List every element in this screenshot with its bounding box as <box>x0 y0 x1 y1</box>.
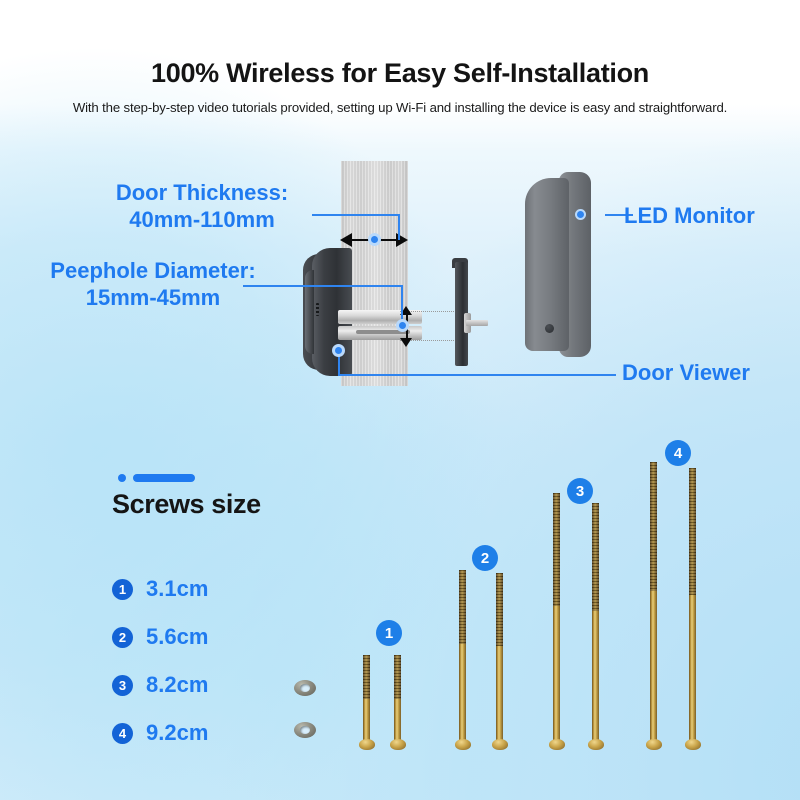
marker-led-monitor <box>575 209 586 220</box>
screw-4b <box>689 468 696 743</box>
washer-upper <box>294 680 316 696</box>
infographic-page: 100% Wireless for Easy Self-Installation… <box>0 0 800 800</box>
legend-badge-2: 2 <box>112 627 133 648</box>
screw-badge-1: 1 <box>376 620 402 646</box>
label-door-thickness: Door Thickness: 40mm-110mm <box>82 180 322 234</box>
screw-thread <box>496 573 503 646</box>
screws-legend: 1 3.1cm 2 5.6cm 3 8.2cm 4 9.2cm <box>112 565 208 757</box>
screw-3a <box>553 493 560 743</box>
screw-head <box>549 739 565 750</box>
list-item: 2 5.6cm <box>112 613 208 661</box>
screw-thread <box>689 468 696 595</box>
screw-head <box>359 739 375 750</box>
accent-bar-icon <box>133 474 195 482</box>
legend-size-4: 9.2cm <box>146 720 208 746</box>
diameter-arrow-down-icon <box>400 338 412 347</box>
leader-door-viewer-h <box>338 374 616 376</box>
accent-dot-icon <box>118 474 126 482</box>
screw-2b <box>496 573 503 743</box>
led-monitor-unit <box>525 172 591 357</box>
screw-head <box>588 739 604 750</box>
screw-thread <box>553 493 560 606</box>
screw-badge-3: 3 <box>567 478 593 504</box>
leader-peephole-v <box>401 285 403 323</box>
screw-thread <box>650 462 657 591</box>
marker-door-viewer <box>332 344 345 357</box>
page-title: 100% Wireless for Easy Self-Installation <box>0 58 800 89</box>
washer-hole-icon <box>300 684 310 692</box>
legend-size-3: 8.2cm <box>146 672 208 698</box>
legend-badge-1: 1 <box>112 579 133 600</box>
camera-vent-icon <box>316 303 319 316</box>
washer-hole-icon <box>300 726 310 734</box>
screw-head <box>455 739 471 750</box>
legend-size-2: 5.6cm <box>146 624 208 650</box>
screw-3b <box>592 503 599 743</box>
screw-thread <box>363 655 370 699</box>
screw-head <box>492 739 508 750</box>
screw-1b <box>394 655 401 743</box>
mount-screw-pin <box>466 320 488 326</box>
leader-door-thickness-h <box>312 214 400 216</box>
label-peephole-diameter: Peephole Diameter: 15mm-45mm <box>28 258 278 312</box>
screw-thread <box>459 570 466 644</box>
screw-thread <box>592 503 599 611</box>
screw-thread <box>394 655 401 699</box>
screw-1a <box>363 655 370 743</box>
legend-badge-3: 3 <box>112 675 133 696</box>
screw-4a <box>650 462 657 743</box>
screw-head <box>646 739 662 750</box>
screw-head <box>390 739 406 750</box>
label-door-viewer: Door Viewer <box>622 360 750 387</box>
screws-heading: Screws size <box>112 489 261 520</box>
screw-2a <box>459 570 466 743</box>
leader-door-thickness-v <box>398 214 400 240</box>
marker-door-thickness <box>368 233 381 246</box>
screw-badge-2: 2 <box>472 545 498 571</box>
page-subtitle: With the step-by-step video tutorials pr… <box>0 100 800 115</box>
washer-lower <box>294 722 316 738</box>
monitor-reset-hole-icon <box>545 324 554 333</box>
marker-peephole <box>396 319 409 332</box>
screw-head <box>685 739 701 750</box>
list-item: 1 3.1cm <box>112 565 208 613</box>
header: 100% Wireless for Easy Self-Installation… <box>0 0 800 115</box>
screw-badge-4: 4 <box>665 440 691 466</box>
legend-badge-4: 4 <box>112 723 133 744</box>
legend-size-1: 3.1cm <box>146 576 208 602</box>
list-item: 3 8.2cm <box>112 661 208 709</box>
list-item: 4 9.2cm <box>112 709 208 757</box>
camera-edge <box>305 270 314 354</box>
section-accent <box>118 474 195 482</box>
label-led-monitor: LED Monitor <box>624 203 755 230</box>
